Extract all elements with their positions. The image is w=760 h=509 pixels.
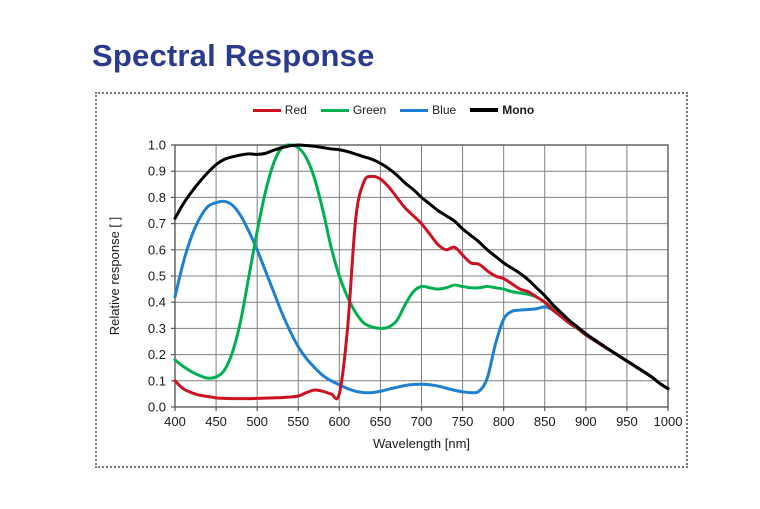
chart-container: RedGreenBlueMono 40045050055060065070075… — [95, 92, 688, 468]
x-tick-label: 850 — [534, 414, 556, 429]
x-tick-label: 500 — [246, 414, 268, 429]
y-axis-label: Relative response [ ] — [107, 217, 122, 336]
y-tick-label: 0.5 — [148, 269, 166, 284]
y-tick-label: 0.7 — [148, 216, 166, 231]
y-tick-label: 0.3 — [148, 321, 166, 336]
y-axis: 0.00.10.20.30.40.50.60.70.80.91.0 — [148, 138, 175, 415]
y-tick-label: 0.2 — [148, 347, 166, 362]
y-tick-label: 0.4 — [148, 295, 166, 310]
spectral-response-chart: 4004505005506006507007508008509009501000… — [97, 94, 686, 466]
page-title: Spectral Response — [92, 38, 375, 74]
y-tick-label: 0.8 — [148, 190, 166, 205]
y-tick-label: 0.9 — [148, 164, 166, 179]
x-axis-label: Wavelength [nm] — [373, 436, 470, 451]
x-tick-label: 650 — [370, 414, 392, 429]
x-tick-label: 750 — [452, 414, 474, 429]
y-tick-label: 0.6 — [148, 242, 166, 257]
x-axis: 4004505005506006507007508008509009501000 — [164, 407, 682, 429]
y-tick-label: 1.0 — [148, 138, 166, 153]
x-tick-label: 600 — [328, 414, 350, 429]
x-tick-label: 800 — [493, 414, 515, 429]
y-tick-label: 0.0 — [148, 400, 166, 415]
x-tick-label: 450 — [205, 414, 227, 429]
x-tick-label: 950 — [616, 414, 638, 429]
x-tick-label: 700 — [411, 414, 433, 429]
slide-canvas: Spectral Response RedGreenBlueMono 40045… — [0, 0, 760, 509]
y-tick-label: 0.1 — [148, 373, 166, 388]
x-tick-label: 1000 — [654, 414, 683, 429]
x-tick-label: 550 — [287, 414, 309, 429]
x-tick-label: 400 — [164, 414, 186, 429]
x-tick-label: 900 — [575, 414, 597, 429]
